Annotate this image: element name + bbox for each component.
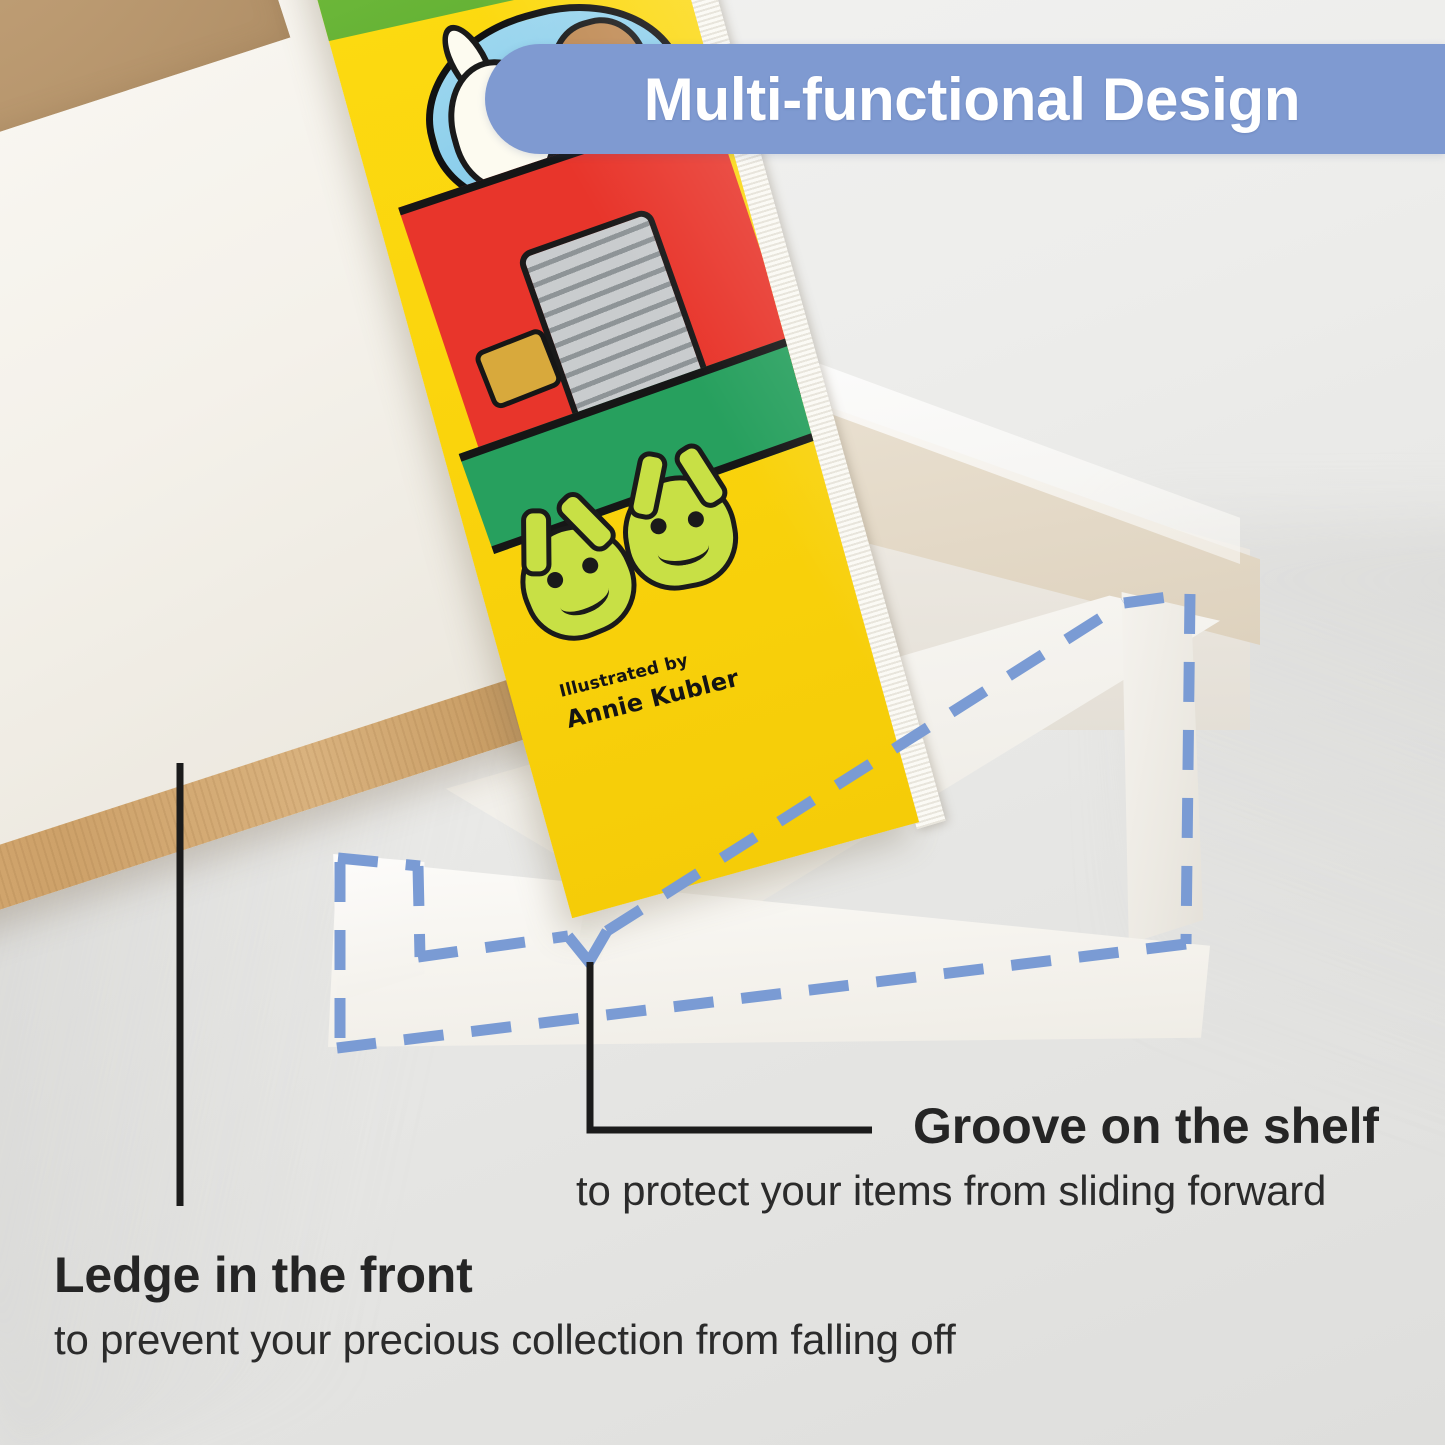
banner-multi-functional-design: Multi-functional Design	[485, 44, 1445, 154]
product-feature-image: Illustrated by Annie Kubler Multi-functi…	[0, 0, 1445, 1445]
banner-label: Multi-functional Design	[612, 65, 1318, 134]
callout-groove-subtext: to protect your items from sliding forwa…	[576, 1167, 1326, 1215]
callout-ledge-subtext: to prevent your precious collection from…	[54, 1316, 956, 1364]
callout-ledge-heading: Ledge in the front	[54, 1246, 473, 1304]
product-photo: Illustrated by Annie Kubler	[0, 0, 1445, 1445]
callout-groove-heading: Groove on the shelf	[913, 1097, 1379, 1155]
